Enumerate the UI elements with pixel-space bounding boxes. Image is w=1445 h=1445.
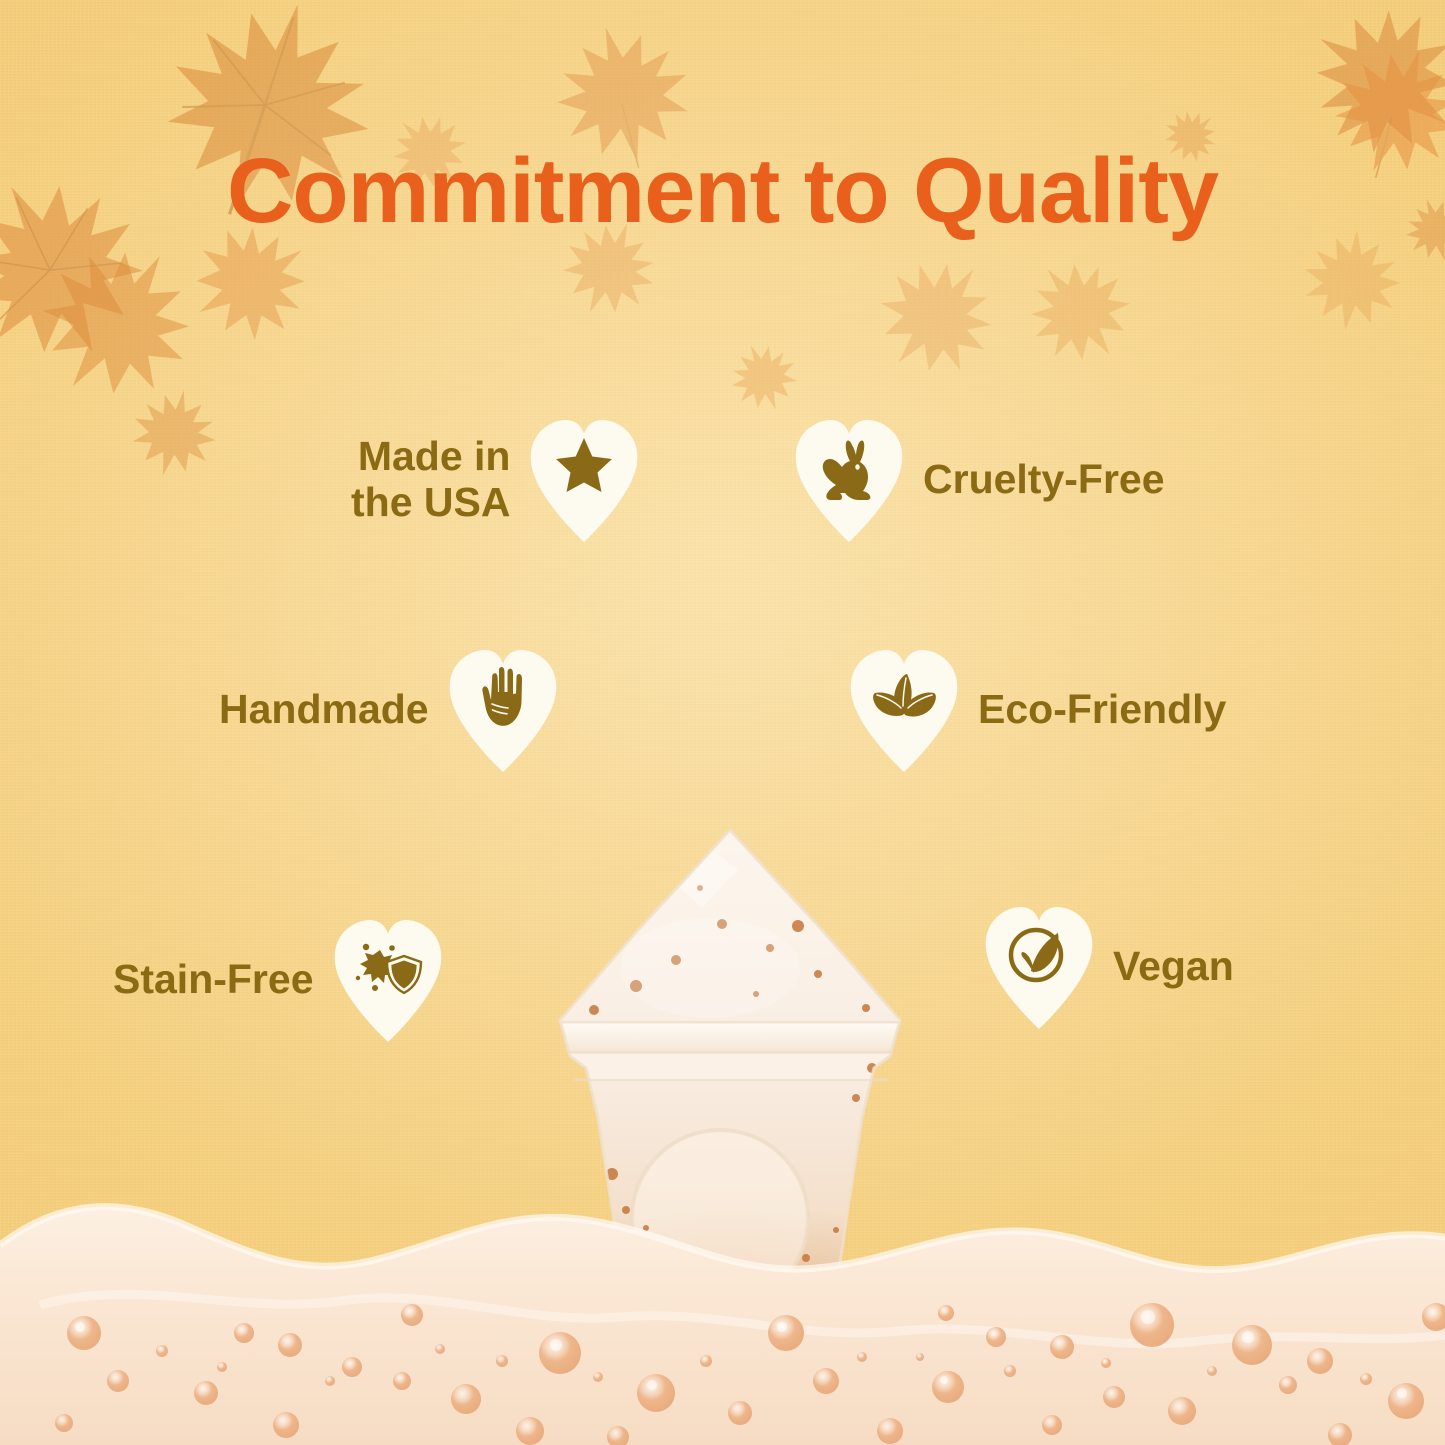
badge-label: Eco-Friendly: [978, 687, 1226, 733]
heart-badge: [528, 418, 640, 542]
badge-label: Stain-Free: [113, 957, 314, 1003]
heart-badge: [983, 905, 1095, 1029]
maple-leaf-icon: [714, 329, 810, 425]
badge-label: Cruelty-Free: [923, 457, 1165, 503]
heart-badge: [848, 648, 960, 772]
badge-handmade: Handmade: [219, 648, 559, 772]
product-image: [470, 818, 990, 1445]
page-title: Commitment to Quality: [0, 139, 1445, 244]
maple-leaf-icon: [997, 232, 1157, 392]
badge-stain-free: Stain-Free: [113, 918, 444, 1042]
badge-eco-friendly: Eco-Friendly: [848, 648, 1226, 772]
promo-banner: Commitment to Quality Made in the USA: [0, 0, 1445, 1445]
heart-badge: [793, 418, 905, 542]
badge-made-in-usa: Made in the USA: [351, 418, 640, 542]
badge-vegan: Vegan: [983, 905, 1234, 1029]
badge-label: Vegan: [1113, 944, 1234, 990]
maple-leaf-icon: [843, 223, 1026, 406]
badge-label: Handmade: [219, 687, 429, 733]
heart-badge: [332, 918, 444, 1042]
heart-badge: [447, 648, 559, 772]
badge-label: Made in the USA: [351, 434, 510, 526]
badge-cruelty-free: Cruelty-Free: [793, 418, 1165, 542]
